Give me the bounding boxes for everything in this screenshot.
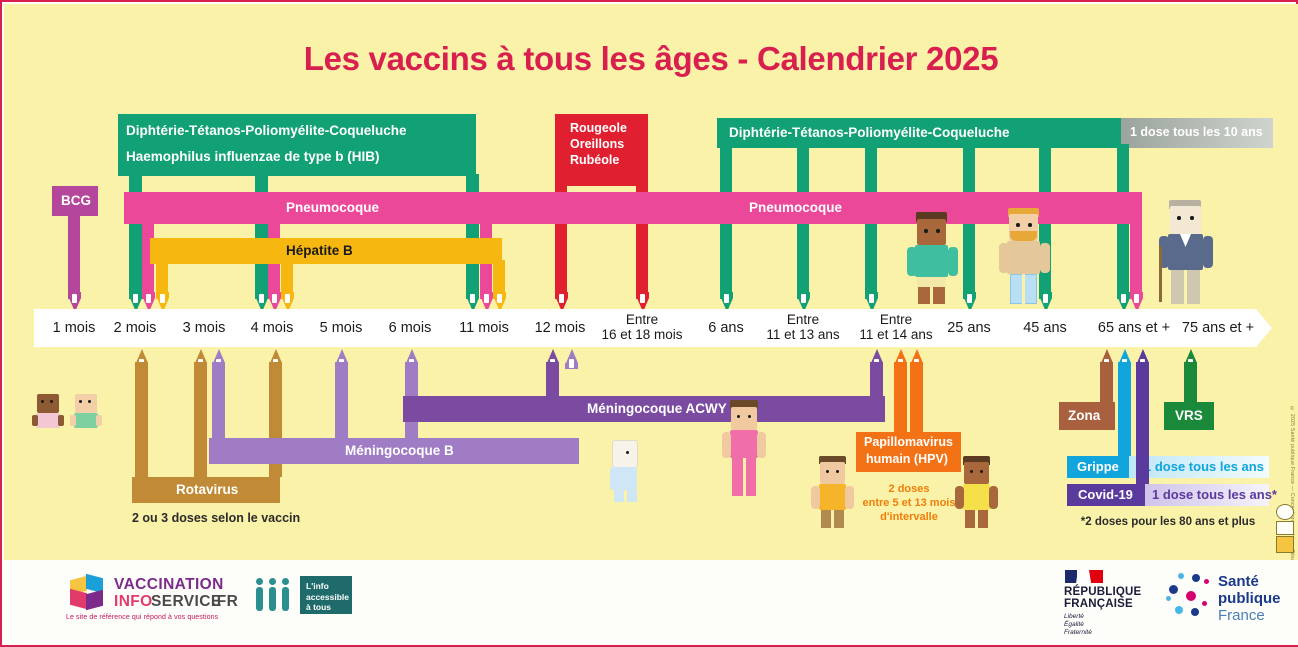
- boy2-arm-r: [989, 486, 998, 509]
- bar-rotavirus-label: Rotavirus: [176, 482, 238, 498]
- bar-dtp-left-line1: Diphtérie-Tétanos-Poliomyélite-Coqueluch…: [126, 123, 407, 139]
- tick-label-11-13-ans: Entre 11 et 13 ans: [750, 309, 856, 347]
- boy2-body: [963, 484, 990, 510]
- adult1-head: [917, 219, 946, 245]
- spf-line3: France: [1218, 608, 1265, 625]
- tick-label-75-ans: 75 ans et +: [1171, 309, 1265, 347]
- tick-label-25-ans: 25 ans: [932, 309, 1006, 347]
- adult2-eye-r: [1028, 223, 1032, 227]
- pictogram-icon-2: [1276, 521, 1294, 535]
- boy2-eye-l: [970, 470, 973, 473]
- adult1-leg-gap: [930, 287, 933, 304]
- girl-arm-l: [722, 432, 731, 458]
- senior-eye-r: [1190, 216, 1194, 220]
- senior-arm-r: [1203, 236, 1213, 268]
- bar-covid-label: Covid-19: [1078, 488, 1133, 503]
- connector-rotavirus-3m: [194, 362, 207, 477]
- spf-dot-8: [1202, 601, 1207, 606]
- connector-zona-65ans: [1100, 362, 1113, 402]
- crawl-leg-l: [614, 489, 624, 502]
- adult1-arm-r: [948, 247, 958, 276]
- spf-dot-1: [1169, 585, 1178, 594]
- senior-head: [1170, 206, 1201, 234]
- page-title: Les vaccins à tous les âges - Calendrier…: [4, 40, 1298, 78]
- logo-info-text: INFO: [114, 593, 153, 611]
- tick-label-45-ans: 45 ans: [1008, 309, 1082, 347]
- bar-dtp-left-line2: Haemophilus influenzae de type b (HIB): [126, 149, 380, 165]
- footer-bar: VACCINATION INFO SERVICE .FR Le site de …: [4, 560, 1298, 645]
- info-accessible-line1: L'info: [306, 581, 346, 592]
- boy2-arm-l: [955, 486, 964, 509]
- info-accessible-box[interactable]: L'info accessible à tous: [300, 576, 352, 614]
- adult1-body: [915, 245, 948, 277]
- logo-fr-text: .FR: [212, 593, 238, 611]
- baby2-arm-r: [96, 415, 102, 426]
- adult2-eye-l: [1016, 223, 1020, 227]
- figure-baby-right: [70, 394, 102, 434]
- connector-vrs-75ans: [1184, 362, 1197, 402]
- senior-eye-l: [1177, 216, 1181, 220]
- pictogram-body-1: [256, 587, 263, 611]
- figure-girl-yellow-right: [954, 456, 1000, 528]
- baby2-head: [75, 394, 97, 413]
- bar-meningocoque-b-label: Méningocoque B: [345, 443, 454, 459]
- boy1-leg-gap: [831, 510, 834, 528]
- adult2-arm-l: [999, 243, 1009, 273]
- adult1-eye-l: [924, 229, 928, 233]
- adult1-arm-l: [907, 247, 917, 276]
- girl-eye-l: [737, 415, 740, 418]
- connector-meningob-3m: [212, 362, 225, 438]
- spf-dot-3: [1192, 574, 1200, 582]
- bar-grippe-value: 1 dose tous les ans: [1144, 460, 1264, 475]
- baby2-arm-l: [70, 415, 76, 426]
- connector-hpv-2: [910, 362, 923, 432]
- boy1-arm-l: [811, 486, 820, 509]
- baby2-body: [74, 413, 98, 428]
- pictogram-head-3: [282, 578, 289, 585]
- connector-acwy-12m: [546, 362, 559, 396]
- adult1-shorts: [917, 277, 946, 287]
- pictogram-body-2: [269, 587, 276, 611]
- connector-bcg-1m: [68, 212, 80, 299]
- bar-dtp-booster-label: 1 dose tous les 10 ans: [1130, 125, 1263, 139]
- figure-crawling-baby: [608, 440, 646, 504]
- french-flag-icon: [1065, 570, 1103, 583]
- tick-label-65-ans: 65 ans et +: [1087, 309, 1181, 347]
- pictogram-body-3: [282, 587, 289, 611]
- covid-note: *2 doses pour les 80 ans et plus: [1067, 516, 1269, 528]
- adult2-body: [1007, 241, 1040, 274]
- logo-hex-purple: [86, 590, 103, 611]
- pictogram-icon-3: [1276, 536, 1294, 553]
- connector-covid-65ans: [1136, 362, 1149, 484]
- boy1-eye-r: [836, 470, 839, 473]
- logo-hex-pink: [70, 589, 87, 610]
- info-accessible-pictogram: [254, 578, 296, 612]
- girl-head: [731, 407, 757, 430]
- spf-dot-5: [1166, 596, 1171, 601]
- bar-grippe-label: Grippe: [1077, 460, 1119, 475]
- baby-eye-l: [41, 400, 44, 403]
- girl-eye-r: [748, 415, 751, 418]
- bar-ror-line2: Oreillons: [570, 137, 624, 151]
- bar-hepatite-b-label: Hépatite B: [286, 243, 353, 259]
- connector-meningob-5m: [335, 362, 348, 438]
- bar-zona-label: Zona: [1068, 408, 1100, 424]
- crawl-eye: [626, 451, 629, 454]
- boy2-head: [964, 462, 989, 484]
- infographic-canvas: Les vaccins à tous les âges - Calendrier…: [4, 4, 1298, 560]
- adult1-eye-r: [936, 229, 940, 233]
- syringe-up-meningoacwy-12m: [565, 349, 578, 369]
- spf-line2: publique: [1218, 591, 1281, 608]
- baby-arm-l: [32, 415, 38, 426]
- logo-vaccination-text: VACCINATION: [114, 576, 224, 594]
- tick-label-5: 5 mois: [301, 309, 381, 347]
- logo-tagline: Le site de référence qui répond à vos qu…: [66, 614, 218, 621]
- adult2-beard: [1010, 231, 1037, 241]
- bar-ror-line1: Rougeole: [570, 121, 627, 135]
- bar-pneumo-left-label: Pneumocoque: [286, 200, 379, 216]
- boy1-head: [820, 462, 845, 484]
- bar-bcg-label: BCG: [61, 193, 91, 209]
- senior-cane: [1159, 246, 1162, 302]
- rotavirus-note: 2 ou 3 doses selon le vaccin: [132, 511, 280, 525]
- girl-arm-r: [757, 432, 766, 458]
- info-accessible-line2: accessible: [306, 592, 346, 603]
- figure-girl-pink: [720, 400, 768, 496]
- logo-service-text: SERVICE: [151, 593, 222, 611]
- hpv-note-line3: d'intervalle: [849, 511, 969, 525]
- boy1-arm-r: [845, 486, 854, 509]
- bar-vrs-label: VRS: [1175, 408, 1203, 424]
- bar-pneumo-right-label: Pneumocoque: [749, 200, 842, 216]
- hpv-note: 2 doses entre 5 et 13 mois d'intervalle: [849, 483, 969, 524]
- boy1-eye-l: [826, 470, 829, 473]
- spf-dot-6: [1175, 606, 1183, 614]
- connector-grippe-65ans: [1118, 362, 1131, 456]
- girl-top: [730, 430, 758, 458]
- adult2-leg-gap: [1022, 274, 1025, 304]
- tick-label-6: 6 mois: [370, 309, 450, 347]
- hpv-note-line2: entre 5 et 13 mois: [849, 497, 969, 511]
- figure-adult-teal: [907, 212, 959, 304]
- figure-boy-yellow-left: [810, 456, 856, 528]
- connector-hpv-1: [894, 362, 907, 432]
- figure-baby-left: [32, 394, 64, 434]
- pictogram-head-1: [256, 578, 263, 585]
- bar-hpv-line1: Papillomavirus: [864, 435, 953, 449]
- crawl-head: [612, 440, 638, 468]
- senior-leg-gap: [1184, 270, 1187, 304]
- hpv-note-line1: 2 doses: [849, 483, 969, 497]
- boy2-leg-gap: [975, 510, 978, 528]
- baby-arm-r: [58, 415, 64, 426]
- bar-covid-value: 1 dose tous les ans*: [1152, 488, 1277, 503]
- pictogram-icon-1: [1276, 504, 1294, 520]
- baby-body: [36, 413, 60, 428]
- poster-root: Les vaccins à tous les âges - Calendrier…: [0, 0, 1298, 647]
- figure-adult-beige: [999, 208, 1051, 304]
- tick-label-16-18-mois: Entre 16 et 18 mois: [587, 309, 697, 347]
- adult2-arm-r: [1040, 243, 1050, 273]
- info-accessible-line3: à tous: [306, 602, 346, 613]
- republique-francaise-line2: FRANÇAISE: [1064, 598, 1133, 611]
- republique-francaise-line1: RÉPUBLIQUE: [1064, 586, 1141, 599]
- boy1-body: [819, 484, 846, 510]
- crawl-leg-r: [627, 489, 637, 502]
- bar-hpv-line2: humain (HPV): [866, 452, 948, 466]
- flag-white: [1077, 570, 1090, 583]
- tick-label-11: 11 mois: [442, 309, 526, 347]
- baby2-eye-r: [88, 400, 91, 403]
- boy2-eye-r: [980, 470, 983, 473]
- figure-senior-cane: [1159, 200, 1217, 304]
- connector-pneumo-65ans: [1130, 220, 1142, 299]
- girl-leg-gap: [743, 458, 746, 496]
- tick-label-4: 4 mois: [232, 309, 312, 347]
- spf-dot-7: [1191, 608, 1199, 616]
- connector-acwy-1114ans: [870, 362, 883, 396]
- spf-dot-center: [1186, 591, 1196, 601]
- pictogram-head-2: [269, 578, 276, 585]
- spf-dot-2: [1178, 573, 1184, 579]
- connector-rotavirus-2m: [135, 362, 148, 477]
- vaccination-info-service-logo[interactable]: [70, 574, 106, 610]
- baby-eye-r: [50, 400, 53, 403]
- motto-fraternite: Fraternité: [1064, 628, 1092, 637]
- bar-dtp-right-label: Diphtérie-Tétanos-Poliomyélite-Coqueluch…: [729, 125, 1010, 141]
- crawl-body: [610, 467, 637, 490]
- bar-meningocoque-acwy-label: Méningocoque ACWY: [587, 401, 727, 417]
- baby-head: [37, 394, 59, 413]
- spf-line1: Santé: [1218, 574, 1259, 591]
- flag-red: [1089, 570, 1103, 583]
- icon-accessibility-badges: [1274, 504, 1296, 554]
- spf-dot-4: [1204, 579, 1209, 584]
- baby2-eye-l: [79, 400, 82, 403]
- sante-publique-france-mark: [1166, 572, 1214, 620]
- tick-label-2: 2 mois: [95, 309, 175, 347]
- bar-ror-line3: Rubéole: [570, 153, 619, 167]
